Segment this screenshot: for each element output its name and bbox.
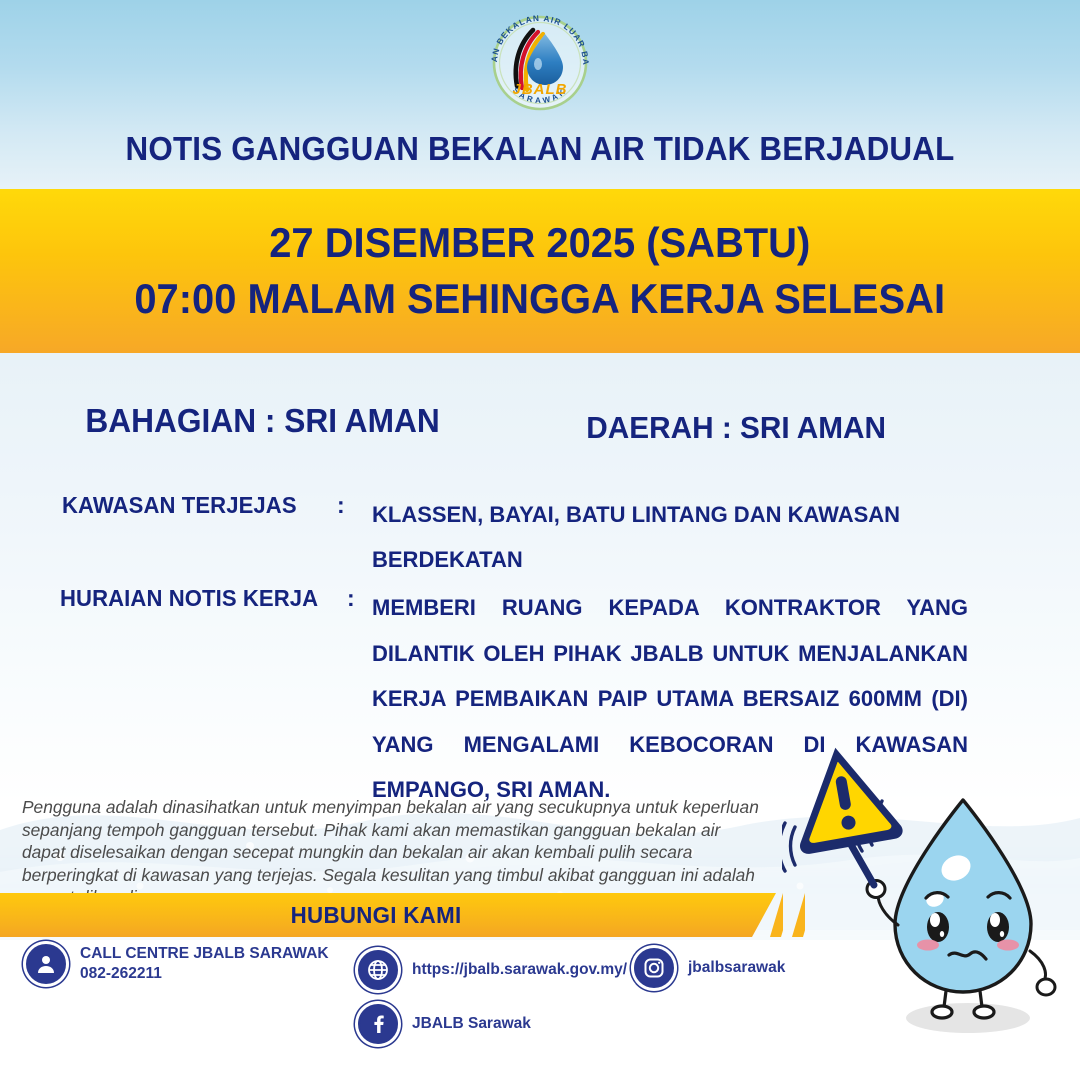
- instagram-icon: [634, 948, 674, 988]
- contact-banner: HUBUNGI KAMI: [0, 893, 1080, 941]
- globe-icon: [358, 950, 398, 990]
- contact-call-centre-text: CALL CENTRE JBALB SARAWAK 082-262211: [80, 944, 329, 984]
- region-row: BAHAGIAN : SRI AMAN DAERAH : SRI AMAN: [0, 402, 1080, 450]
- bahagian-label-value: BAHAGIAN : SRI AMAN: [85, 402, 439, 440]
- contact-call-centre-line2: 082-262211: [80, 964, 329, 984]
- svg-text:JBALB: JBALB: [512, 81, 567, 98]
- huraian-notis-kerja-label: HURAIAN NOTIS KERJA: [60, 585, 318, 612]
- date-banner: 27 DISEMBER 2025 (SABTU) 07:00 MALAM SEH…: [0, 189, 1080, 353]
- notice-time: 07:00 MALAM SEHINGGA KERJA SELESAI: [135, 272, 946, 326]
- facebook-icon: [358, 1004, 398, 1044]
- contact-facebook[interactable]: JBALB Sarawak: [358, 1004, 531, 1044]
- advisory-paragraph: Pengguna adalah dinasihatkan untuk menyi…: [22, 796, 765, 909]
- contact-instagram[interactable]: jbalbsarawak: [634, 948, 785, 988]
- contact-website[interactable]: https://jbalb.sarawak.gov.my/: [358, 950, 627, 990]
- banner-stripe-2: [792, 893, 805, 937]
- daerah-label-value: DAERAH : SRI AMAN: [586, 410, 886, 446]
- contact-list: CALL CENTRE JBALB SARAWAK 082-262211 htt…: [0, 944, 1080, 1054]
- notice-date: 27 DISEMBER 2025 (SABTU): [269, 216, 810, 270]
- kawasan-terjejas-label: KAWASAN TERJEJAS: [62, 492, 297, 519]
- contact-call-centre[interactable]: CALL CENTRE JBALB SARAWAK 082-262211: [26, 944, 329, 984]
- contact-website-text: https://jbalb.sarawak.gov.my/: [412, 960, 627, 980]
- person-icon: [26, 944, 66, 984]
- notice-poster: JABATAN BEKALAN AIR LUAR BANDAR SARAWAK …: [0, 0, 1080, 1080]
- huraian-notis-kerja-colon: :: [347, 585, 355, 612]
- contact-instagram-text: jbalbsarawak: [688, 958, 785, 978]
- page-title: NOTIS GANGGUAN BEKALAN AIR TIDAK BERJADU…: [27, 130, 1053, 168]
- jbalb-logo: JABATAN BEKALAN AIR LUAR BANDAR SARAWAK …: [483, 8, 597, 112]
- jbalb-logo-icon: JABATAN BEKALAN AIR LUAR BANDAR SARAWAK …: [483, 8, 597, 112]
- kawasan-terjejas-value: KLASSEN, BAYAI, BATU LINTANG DAN KAWASAN…: [372, 492, 982, 582]
- kawasan-terjejas-colon: :: [337, 492, 345, 519]
- contact-facebook-text: JBALB Sarawak: [412, 1014, 531, 1034]
- contact-banner-label: HUBUNGI KAMI: [291, 902, 462, 929]
- contact-call-centre-line1: CALL CENTRE JBALB SARAWAK: [80, 945, 329, 962]
- contact-banner-bar: HUBUNGI KAMI: [0, 893, 776, 937]
